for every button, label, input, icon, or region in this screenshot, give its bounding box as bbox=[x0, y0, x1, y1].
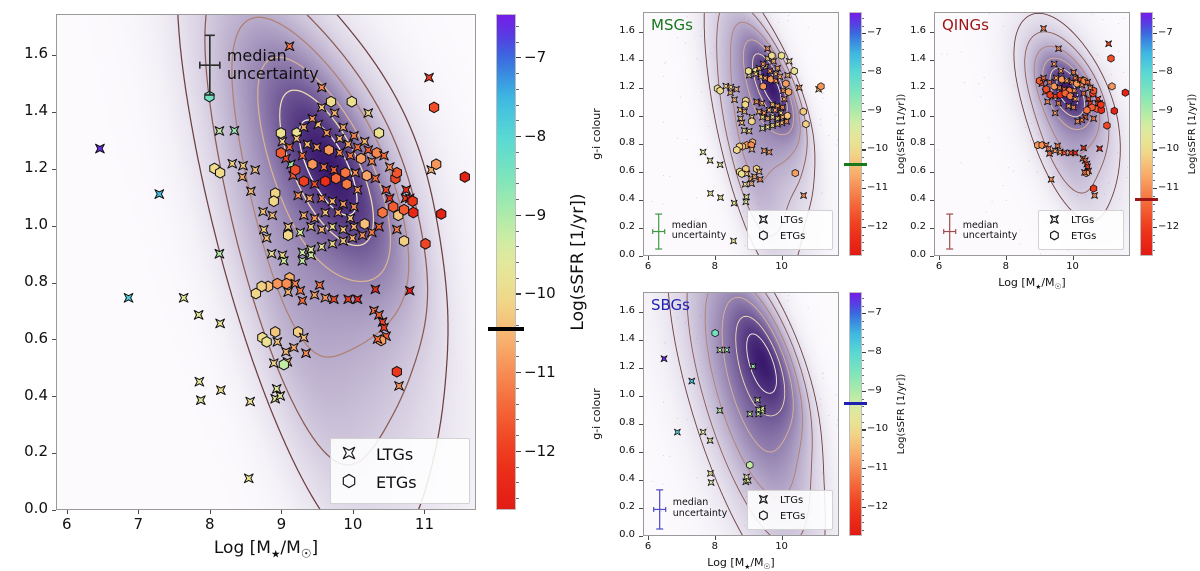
background-speck bbox=[786, 173, 787, 174]
data-point bbox=[375, 222, 384, 231]
background-speck bbox=[828, 135, 829, 136]
background-speck bbox=[707, 427, 708, 428]
ytick-label: 1.4 bbox=[589, 333, 635, 344]
data-point bbox=[294, 191, 303, 200]
ytick-label: 0.2 bbox=[880, 221, 926, 232]
colorbar-tickmark bbox=[1153, 33, 1157, 34]
data-point bbox=[818, 83, 824, 90]
data-point bbox=[750, 363, 756, 369]
data-point bbox=[748, 181, 754, 187]
background-speck bbox=[1003, 26, 1004, 27]
background-speck bbox=[695, 498, 696, 499]
colorbar-minor-tickmark bbox=[1153, 134, 1155, 135]
colorbar-minor-tickmark bbox=[862, 95, 864, 96]
background-speck bbox=[662, 203, 663, 204]
data-point bbox=[425, 73, 434, 82]
background-speck bbox=[732, 157, 733, 158]
ytickmark bbox=[52, 510, 56, 511]
xtick-label: 8 bbox=[984, 261, 1028, 272]
background-speck bbox=[687, 419, 688, 420]
data-point bbox=[215, 127, 224, 136]
data-point bbox=[766, 149, 772, 155]
data-point bbox=[800, 108, 806, 115]
background-speck bbox=[654, 227, 655, 228]
background-speck bbox=[665, 342, 666, 343]
background-speck bbox=[1118, 51, 1119, 52]
xtick-label: 8 bbox=[188, 515, 232, 533]
xtickmark bbox=[715, 536, 716, 540]
contour-level-4 bbox=[736, 316, 785, 416]
colorbar-tickmark bbox=[862, 391, 866, 392]
data-point bbox=[276, 128, 285, 139]
background-speck bbox=[988, 137, 989, 138]
colorbar-minor-tickmark bbox=[516, 26, 519, 27]
data-point bbox=[353, 185, 362, 194]
data-point bbox=[734, 146, 740, 153]
ytick-label: 1.4 bbox=[880, 53, 926, 64]
colorbar-minor-tickmark bbox=[862, 422, 864, 423]
data-point bbox=[321, 208, 330, 217]
colorbar-minor-tickmark bbox=[516, 120, 519, 121]
colorbar-minor-tickmark bbox=[862, 460, 864, 461]
background-speck bbox=[788, 20, 789, 21]
background-speck bbox=[677, 418, 678, 419]
background-speck bbox=[766, 102, 767, 103]
background-speck bbox=[820, 404, 821, 405]
data-point bbox=[742, 181, 748, 187]
data-point bbox=[437, 209, 446, 220]
colorbar-tick-label: −12 bbox=[1158, 221, 1179, 232]
colorbar-tickmark bbox=[862, 313, 866, 314]
colorbar-minor-tickmark bbox=[862, 88, 864, 89]
data-point bbox=[271, 327, 280, 338]
colorbar-minor-tickmark bbox=[516, 356, 519, 357]
colorbar-tick-label: −7 bbox=[867, 307, 882, 318]
colorbar-minor-tickmark bbox=[862, 298, 864, 299]
colorbar-minor-tickmark bbox=[516, 89, 519, 90]
data-point bbox=[731, 97, 737, 103]
background-speck bbox=[758, 203, 759, 204]
data-point bbox=[291, 279, 300, 288]
legend-main-sequence-galaxies bbox=[747, 210, 833, 250]
background-speck bbox=[708, 126, 709, 127]
background-speck bbox=[732, 437, 733, 438]
xtickmark bbox=[281, 510, 282, 514]
data-point bbox=[724, 347, 730, 353]
data-point bbox=[371, 285, 380, 294]
colorbar-minor-tickmark bbox=[862, 414, 864, 415]
background-speck bbox=[715, 372, 716, 373]
colorbar-tick-label: −10 bbox=[1158, 143, 1179, 154]
data-point bbox=[324, 145, 333, 156]
data-point bbox=[1051, 83, 1057, 90]
data-point bbox=[408, 196, 417, 207]
background-speck bbox=[730, 414, 731, 415]
data-point bbox=[1091, 116, 1097, 122]
background-speck bbox=[663, 122, 664, 123]
data-point bbox=[760, 83, 766, 90]
background-speck bbox=[744, 525, 745, 526]
data-point bbox=[321, 293, 330, 302]
background-speck bbox=[744, 245, 745, 246]
data-point bbox=[362, 170, 371, 181]
colorbar-tick-label: −9 bbox=[867, 105, 882, 116]
ytick-label: 0.4 bbox=[880, 193, 926, 204]
background-speck bbox=[775, 175, 776, 176]
background-speck bbox=[947, 54, 948, 55]
colorbar-minor-tickmark bbox=[1153, 250, 1155, 251]
background-speck bbox=[822, 193, 823, 194]
data-point bbox=[746, 128, 752, 134]
data-point bbox=[792, 169, 798, 176]
background-speck bbox=[1074, 76, 1075, 77]
background-speck bbox=[742, 491, 743, 492]
ytickmark bbox=[930, 256, 934, 257]
contours-and-points-all-galaxies bbox=[57, 15, 476, 510]
colorbar-tickmark bbox=[1153, 188, 1157, 189]
colorbar-minor-tickmark bbox=[862, 368, 864, 369]
background-speck bbox=[1003, 185, 1004, 186]
background-speck bbox=[710, 333, 711, 334]
xtick-label: 10 bbox=[760, 541, 804, 552]
data-point bbox=[330, 166, 339, 175]
colorbar-minor-tickmark bbox=[516, 309, 519, 310]
background-speck bbox=[1025, 127, 1026, 128]
background-speck bbox=[1008, 167, 1009, 168]
ytick-label: 0.6 bbox=[589, 445, 635, 456]
ytick-label: 1.0 bbox=[589, 109, 635, 120]
background-speck bbox=[714, 46, 715, 47]
data-point bbox=[1056, 100, 1062, 106]
data-point bbox=[460, 172, 469, 183]
background-speck bbox=[677, 37, 678, 38]
background-speck bbox=[823, 378, 824, 379]
data-point bbox=[382, 185, 391, 194]
colorbar-tickmark bbox=[516, 372, 521, 373]
background-speck bbox=[1058, 168, 1059, 169]
colorbar-minor-tickmark bbox=[862, 306, 864, 307]
ytick-label: 0.8 bbox=[589, 417, 635, 428]
data-point bbox=[1051, 61, 1057, 67]
background-speck bbox=[964, 82, 965, 83]
background-speck bbox=[700, 35, 701, 36]
data-point bbox=[803, 120, 809, 127]
colorbar-minor-tickmark bbox=[1153, 173, 1155, 174]
background-speck bbox=[664, 343, 665, 344]
colorbar-minor-tickmark bbox=[862, 530, 864, 531]
ytick-label: 0.8 bbox=[880, 137, 926, 148]
data-point bbox=[194, 310, 203, 319]
legend-quenched-galaxies bbox=[1038, 210, 1124, 250]
data-point bbox=[761, 148, 767, 154]
background-speck bbox=[801, 126, 802, 127]
data-point bbox=[759, 125, 765, 131]
data-point bbox=[320, 163, 329, 172]
data-point bbox=[356, 153, 365, 164]
data-point bbox=[326, 96, 335, 107]
contour-level-1 bbox=[717, 13, 808, 236]
colorbar-minor-tickmark bbox=[862, 180, 864, 181]
data-point bbox=[310, 214, 319, 223]
colorbar-minor-tickmark bbox=[862, 142, 864, 143]
background-speck bbox=[701, 91, 702, 92]
data-point bbox=[334, 208, 343, 217]
background-speck bbox=[1013, 171, 1014, 172]
colorbar-starburst-galaxies bbox=[849, 292, 862, 536]
data-point bbox=[432, 159, 441, 170]
data-point bbox=[262, 234, 271, 243]
data-point bbox=[179, 293, 188, 302]
data-point bbox=[674, 429, 680, 435]
data-point bbox=[238, 173, 247, 182]
colorbar-tick-label: −12 bbox=[867, 501, 888, 512]
data-point bbox=[124, 293, 133, 302]
colorbar-tick-label: −7 bbox=[867, 27, 882, 38]
background-speck bbox=[980, 96, 981, 97]
xtickmark bbox=[715, 256, 716, 260]
contour-level-0 bbox=[1014, 13, 1120, 221]
background-speck bbox=[1031, 123, 1032, 124]
colorbar-tickmark bbox=[1153, 111, 1157, 112]
background-speck bbox=[1038, 134, 1039, 135]
colorbar-minor-tickmark bbox=[1153, 103, 1155, 104]
data-point bbox=[661, 356, 667, 362]
background-speck bbox=[961, 51, 962, 52]
data-point bbox=[1056, 46, 1062, 52]
x-axis-label: Log [M★/M☉] bbox=[934, 276, 1130, 291]
y-axis-label: g-i colour bbox=[590, 108, 603, 160]
colorbar-tick-label: −10 bbox=[524, 284, 556, 302]
xtick-label: 6 bbox=[626, 261, 670, 272]
xtickmark bbox=[353, 510, 354, 514]
background-speck bbox=[984, 77, 985, 78]
data-point bbox=[364, 109, 373, 118]
background-speck bbox=[835, 114, 836, 115]
colorbar-minor-tickmark bbox=[1153, 235, 1155, 236]
colorbar-tick-label: −8 bbox=[1158, 66, 1173, 77]
data-point bbox=[358, 231, 367, 240]
data-point bbox=[247, 187, 256, 196]
background-speck bbox=[748, 300, 749, 301]
ytick-label: 1.2 bbox=[589, 361, 635, 372]
data-point bbox=[753, 99, 759, 105]
data-point bbox=[689, 378, 695, 384]
background-speck bbox=[715, 92, 716, 93]
background-speck bbox=[687, 296, 688, 297]
data-point bbox=[339, 123, 348, 132]
colorbar-quenched-galaxies bbox=[1140, 12, 1153, 256]
data-point bbox=[399, 236, 408, 247]
colorbar-minor-tickmark bbox=[1153, 26, 1155, 27]
colorbar-tick-label: −11 bbox=[867, 462, 888, 473]
data-point bbox=[757, 176, 763, 182]
data-point bbox=[339, 237, 348, 246]
xtickmark bbox=[648, 536, 649, 540]
colorbar-minor-tickmark bbox=[862, 211, 864, 212]
xtick-label: 6 bbox=[917, 261, 961, 272]
background-speck bbox=[836, 145, 837, 146]
data-point bbox=[342, 179, 351, 190]
background-speck bbox=[1019, 230, 1020, 231]
colorbar-minor-tickmark bbox=[862, 484, 864, 485]
data-point bbox=[246, 397, 255, 406]
xtick-label: 8 bbox=[693, 261, 737, 272]
data-point bbox=[783, 80, 789, 87]
xtickmark bbox=[939, 256, 940, 260]
data-point bbox=[347, 96, 356, 107]
contour-level-1 bbox=[205, 15, 428, 465]
background-speck bbox=[1085, 194, 1086, 195]
data-point bbox=[747, 411, 753, 417]
data-point bbox=[1059, 76, 1065, 83]
data-point bbox=[335, 134, 344, 143]
background-speck bbox=[661, 511, 662, 512]
data-point bbox=[378, 207, 387, 218]
data-point bbox=[1122, 89, 1128, 96]
colorbar-minor-tickmark bbox=[862, 157, 864, 158]
ytick-label: 1.6 bbox=[2, 44, 48, 62]
colorbar-minor-tickmark bbox=[1153, 142, 1155, 143]
background-speck bbox=[695, 218, 696, 219]
data-point bbox=[780, 104, 786, 110]
background-speck bbox=[669, 176, 670, 177]
colorbar-minor-tickmark bbox=[862, 522, 864, 523]
background-speck bbox=[730, 134, 731, 135]
colorbar-minor-tickmark bbox=[1153, 242, 1155, 243]
data-point bbox=[299, 123, 308, 132]
colorbar-tickmark bbox=[862, 188, 866, 189]
background-speck bbox=[661, 231, 662, 232]
data-point bbox=[321, 176, 330, 187]
colorbar-tick-label: −9 bbox=[867, 385, 882, 396]
data-point bbox=[717, 87, 723, 94]
ytick-label: 0.4 bbox=[2, 386, 48, 404]
xtickmark bbox=[1006, 256, 1007, 260]
data-point bbox=[395, 382, 404, 391]
colorbar-minor-tickmark bbox=[862, 41, 864, 42]
background-speck bbox=[677, 317, 678, 318]
data-point bbox=[341, 167, 350, 178]
background-speck bbox=[775, 455, 776, 456]
colorbar-minor-tickmark bbox=[862, 515, 864, 516]
data-point bbox=[730, 238, 736, 244]
background-speck bbox=[941, 54, 942, 55]
background-speck bbox=[836, 425, 837, 426]
background-speck bbox=[663, 356, 664, 357]
colorbar-minor-tickmark bbox=[862, 18, 864, 19]
data-point bbox=[291, 165, 300, 176]
xtick-label: 6 bbox=[45, 515, 89, 533]
data-point bbox=[302, 349, 311, 358]
data-point bbox=[284, 288, 293, 297]
background-speck bbox=[685, 43, 686, 44]
colorbar-minor-tickmark bbox=[862, 103, 864, 104]
background-speck bbox=[823, 98, 824, 99]
data-point bbox=[392, 225, 401, 234]
data-point bbox=[346, 151, 355, 160]
ytick-label: 1.4 bbox=[589, 53, 635, 64]
background-speck bbox=[654, 507, 655, 508]
colorbar-minor-tickmark bbox=[862, 196, 864, 197]
colorbar-tickmark bbox=[862, 468, 866, 469]
colorbar-minor-tickmark bbox=[516, 325, 519, 326]
background-speck bbox=[1091, 14, 1092, 15]
colorbar-minor-tickmark bbox=[862, 134, 864, 135]
background-speck bbox=[663, 402, 664, 403]
data-point bbox=[244, 474, 253, 483]
data-point bbox=[267, 249, 276, 258]
xtick-label: 7 bbox=[116, 515, 160, 533]
data-point bbox=[312, 143, 321, 152]
ytick-label: 0.6 bbox=[880, 165, 926, 176]
data-point bbox=[389, 202, 398, 213]
background-speck bbox=[687, 16, 688, 17]
colorbar-tickmark bbox=[1153, 227, 1157, 228]
data-point bbox=[216, 167, 225, 178]
ytick-label: 0.0 bbox=[589, 529, 635, 540]
background-speck bbox=[1127, 167, 1128, 168]
x-axis-label: Log [M★/M☉] bbox=[56, 538, 476, 560]
background-speck bbox=[1047, 144, 1048, 145]
background-speck bbox=[696, 197, 697, 198]
colorbar-tickmark bbox=[862, 149, 866, 150]
colorbar-minor-tickmark bbox=[862, 406, 864, 407]
colorbar-minor-tickmark bbox=[862, 437, 864, 438]
data-point bbox=[1104, 122, 1110, 129]
data-point bbox=[392, 167, 401, 178]
background-speck bbox=[822, 473, 823, 474]
data-point bbox=[1072, 96, 1078, 102]
data-point bbox=[350, 222, 359, 231]
colorbar-tick-label: −11 bbox=[524, 363, 556, 381]
background-speck bbox=[1126, 177, 1127, 178]
colorbar-title-main-sequence-galaxies: Log(sSFR [1/yr]) bbox=[896, 94, 907, 175]
data-point bbox=[299, 211, 308, 220]
data-point bbox=[399, 204, 408, 215]
colorbar-tickmark bbox=[516, 293, 521, 294]
data-point bbox=[96, 144, 105, 153]
background-speck bbox=[1006, 200, 1007, 201]
colorbar-minor-tickmark bbox=[862, 344, 864, 345]
colorbar-tickmark bbox=[516, 57, 521, 58]
data-point bbox=[216, 319, 225, 328]
data-point bbox=[801, 192, 807, 198]
colorbar-minor-tickmark bbox=[516, 388, 519, 389]
xtickmark bbox=[782, 256, 783, 260]
data-point bbox=[754, 397, 760, 403]
background-speck bbox=[820, 119, 821, 120]
data-point bbox=[717, 195, 723, 201]
background-speck bbox=[696, 477, 697, 478]
data-point bbox=[273, 337, 282, 346]
data-point bbox=[733, 86, 739, 92]
background-speck bbox=[684, 506, 685, 507]
background-speck bbox=[664, 63, 665, 64]
xtick-label: 9 bbox=[259, 515, 303, 533]
xtickmark bbox=[424, 510, 425, 514]
data-point bbox=[717, 347, 723, 353]
data-point bbox=[731, 200, 737, 206]
colorbar-title-all-galaxies: Log(sSFR [1/yr]) bbox=[568, 193, 588, 330]
background-speck bbox=[838, 231, 839, 232]
background-speck bbox=[1063, 66, 1064, 67]
ytick-label: 0.4 bbox=[589, 473, 635, 484]
background-speck bbox=[1065, 65, 1066, 66]
data-point bbox=[195, 377, 204, 386]
xtick-label: 6 bbox=[626, 541, 670, 552]
colorbar-minor-tickmark bbox=[862, 250, 864, 251]
colorbar-minor-tickmark bbox=[862, 64, 864, 65]
